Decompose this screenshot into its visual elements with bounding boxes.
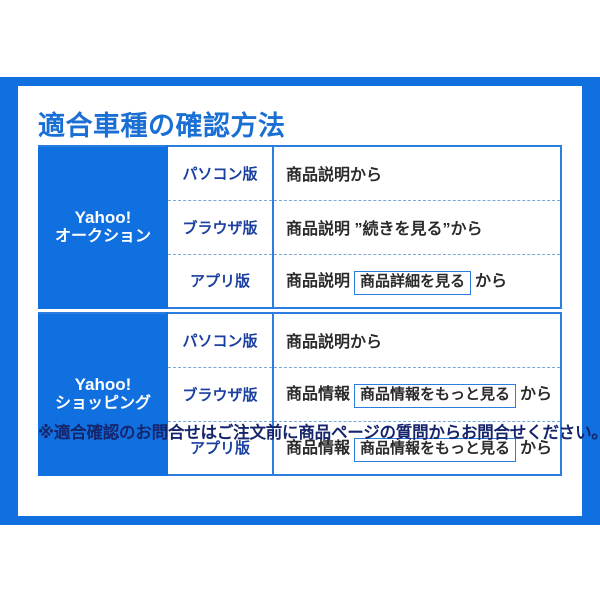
brand-cell-shopping: Yahoo! ショッピング xyxy=(39,313,167,475)
blue-frame-band: 適合車種の確認方法 Yahoo! オークション パソコン版 商品説明から ブラウ… xyxy=(0,77,600,525)
brand-line2: ショッピング xyxy=(40,395,166,414)
table-row: Yahoo! オークション パソコン版 商品説明から xyxy=(39,146,561,200)
brand-line1: Yahoo! xyxy=(40,208,166,228)
how-to-cell: 商品情報商品情報をもっと見るから xyxy=(273,367,561,421)
how-to-cell: 商品説明から xyxy=(273,313,561,367)
brand-line2: オークション xyxy=(40,228,166,247)
how-suffix: から xyxy=(520,386,552,403)
how-prefix: 商品説明 xyxy=(286,273,350,290)
page-title: 適合車種の確認方法 xyxy=(38,104,286,143)
how-to-cell: 商品説明から xyxy=(273,146,561,200)
ui-button-reference: 商品詳細を見る xyxy=(354,271,471,295)
brand-cell-auction: Yahoo! オークション xyxy=(39,146,167,308)
platform-label: ブラウザ版 xyxy=(167,200,273,254)
how-prefix: 商品情報 xyxy=(286,386,350,403)
how-to-cell: 商品説明 ”続きを見る”から xyxy=(273,200,561,254)
table-row: Yahoo! ショッピング パソコン版 商品説明から xyxy=(39,313,561,367)
how-prefix: 商品説明 ”続きを見る”から xyxy=(286,221,482,238)
platform-label: ブラウザ版 xyxy=(167,367,273,421)
content-panel: 適合車種の確認方法 Yahoo! オークション パソコン版 商品説明から ブラウ… xyxy=(18,86,582,516)
how-suffix: から xyxy=(475,273,507,290)
platform-label: アプリ版 xyxy=(167,254,273,308)
footer-note: ※適合確認のお問合せはご注文前に商品ページの質問からお問合せください。 xyxy=(38,419,600,443)
brand-line1: Yahoo! xyxy=(40,375,166,395)
how-to-cell: 商品説明商品詳細を見るから xyxy=(273,254,561,308)
how-prefix: 商品説明から xyxy=(286,334,382,351)
platform-label: パソコン版 xyxy=(167,146,273,200)
how-prefix: 商品説明から xyxy=(286,167,382,184)
ui-button-reference: 商品情報をもっと見る xyxy=(354,384,516,408)
platform-label: パソコン版 xyxy=(167,313,273,367)
